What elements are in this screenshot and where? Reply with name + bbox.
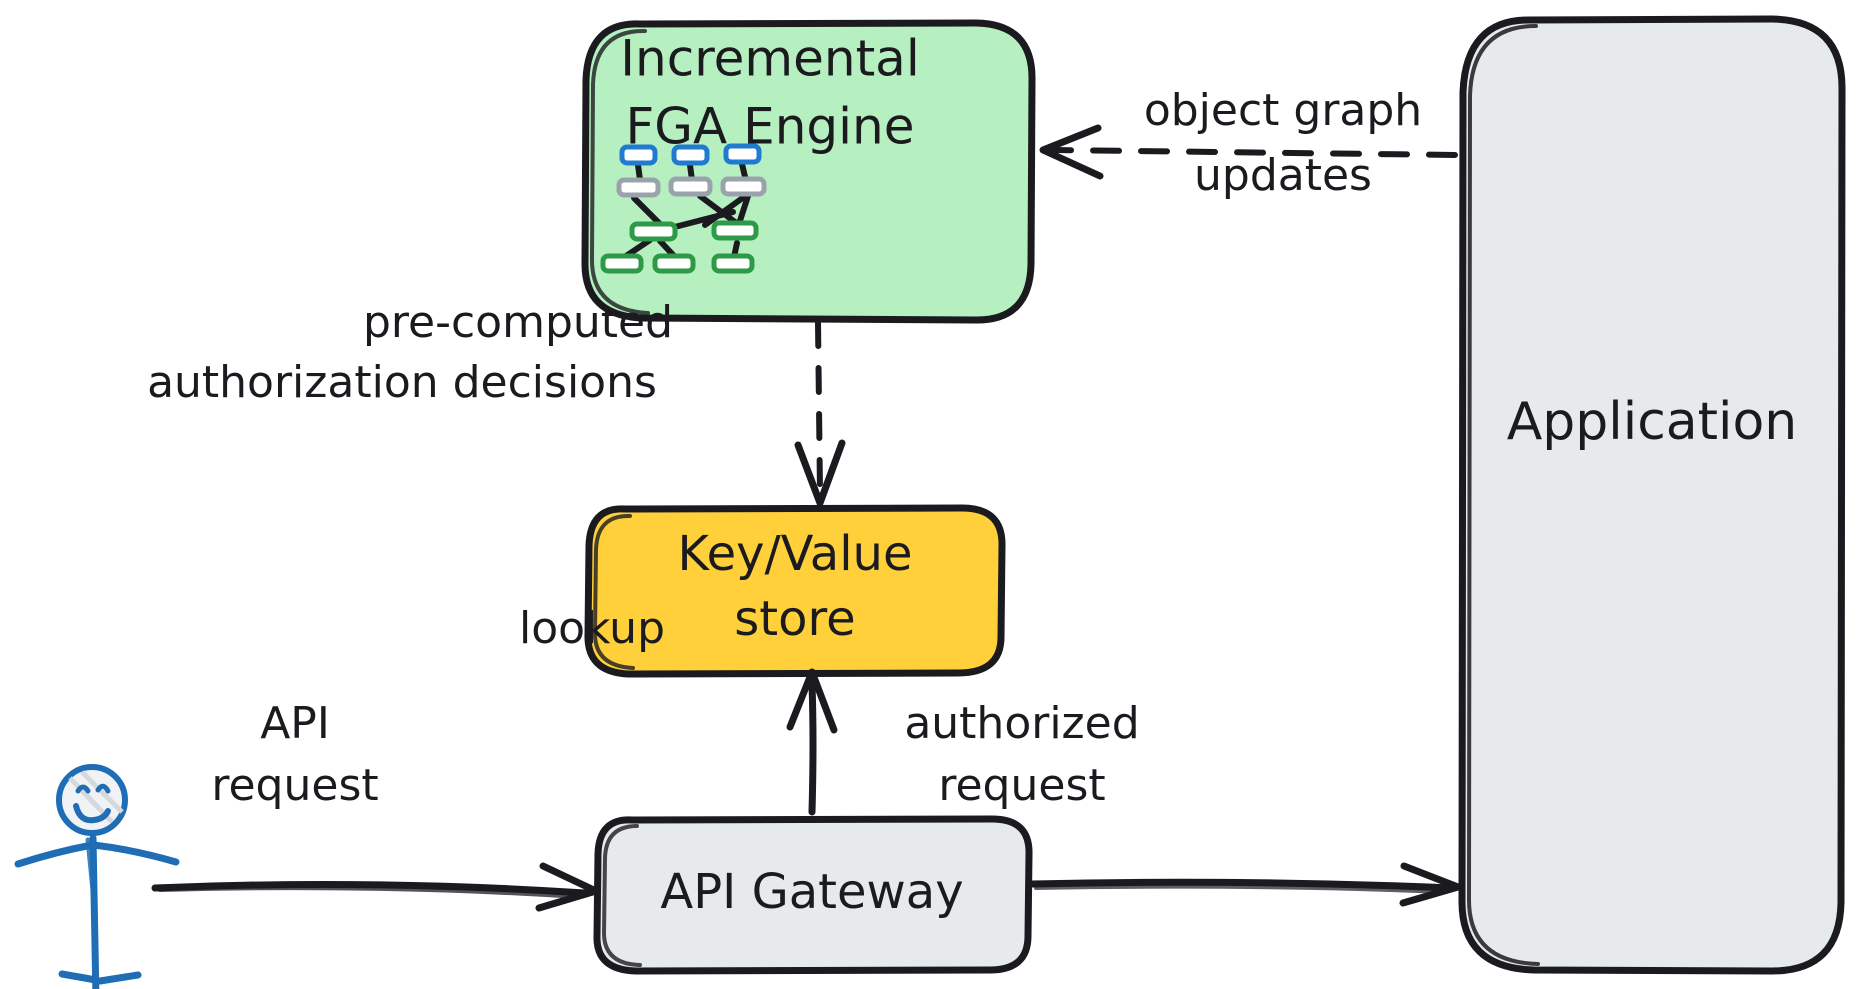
lookup-line	[812, 684, 813, 812]
api-request-label-line2: request	[211, 760, 378, 811]
fga-engine-label-line2: FGA Engine	[626, 98, 915, 156]
user-arm-right	[94, 845, 176, 862]
graph-icon-blue-nodes	[622, 146, 759, 163]
user-torso	[93, 838, 96, 989]
graph-icon-gray-nodes	[619, 179, 764, 195]
application-box-fill	[1462, 19, 1842, 971]
user-foot-right	[100, 975, 138, 981]
user-foot-left	[62, 974, 96, 980]
user-stick-figure[interactable]	[18, 767, 176, 989]
pre-computed-decisions-label-line1: pre-computed	[363, 297, 673, 348]
object-graph-updates-arrow: object graph updates	[1043, 85, 1455, 201]
fga-engine-label-line1: Incremental	[620, 30, 919, 88]
pre-computed-decisions-label-line2: authorization decisions	[147, 357, 657, 408]
application-node[interactable]: Application	[1462, 19, 1842, 971]
authorized-request-label-line2: request	[938, 760, 1105, 811]
user-arm-left	[18, 845, 92, 864]
pre-computed-decisions-line	[818, 322, 820, 492]
lookup-label: lookup	[519, 603, 665, 654]
object-graph-updates-label-line2: updates	[1194, 150, 1372, 201]
authorized-request-label-line1: authorized	[904, 698, 1139, 749]
object-graph-updates-label-line1: object graph	[1144, 85, 1422, 136]
api-request-label-line1: API	[260, 698, 330, 749]
kv-store-label-line2: store	[734, 591, 855, 647]
api-request-arrowhead	[539, 866, 596, 908]
kv-store-label-line1: Key/Value	[677, 526, 912, 582]
diagram-canvas: Application Incremental FGA Engine	[0, 0, 1861, 989]
api-gateway-label: API Gateway	[660, 864, 963, 920]
api-request-arrow: API request	[155, 698, 596, 908]
diagram-svg: Application Incremental FGA Engine	[0, 0, 1861, 989]
api-gateway-node[interactable]: API Gateway	[597, 819, 1029, 971]
application-node-label: Application	[1507, 392, 1798, 452]
pre-computed-authorization-decisions-arrow: pre-computed authorization decisions	[147, 297, 842, 503]
incremental-fga-engine-node[interactable]: Incremental FGA Engine	[585, 23, 1032, 320]
graph-icon-green-bottom-nodes	[603, 256, 752, 271]
